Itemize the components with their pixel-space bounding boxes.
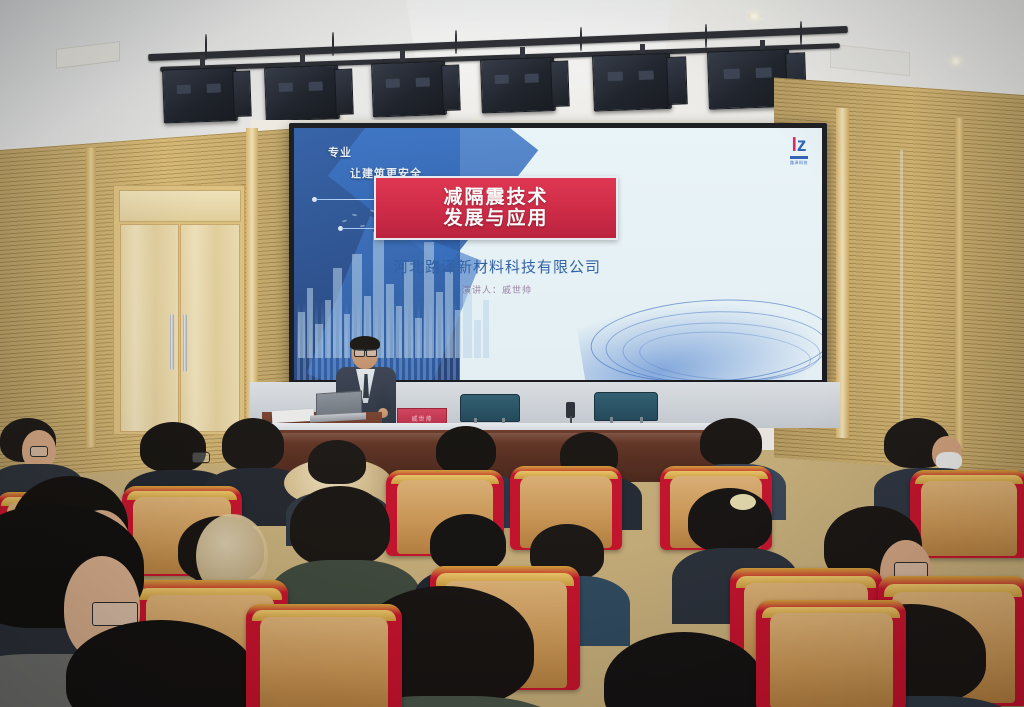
light-cable [800, 21, 802, 45]
photo-canvas: 专业 让建筑更安全 2023 [0, 0, 1024, 707]
auditorium-seat[interactable] [246, 604, 402, 707]
wall-column [955, 117, 964, 448]
light-cable [332, 32, 334, 56]
door-transom [119, 190, 241, 222]
door-handle-left[interactable] [170, 314, 174, 370]
light-cable [455, 30, 457, 54]
stage-light [371, 61, 459, 120]
double-door[interactable] [113, 185, 245, 435]
ceiling-downlight [950, 57, 962, 65]
light-cable [580, 27, 582, 51]
auditorium-seat[interactable] [756, 600, 906, 707]
stage-light [480, 57, 568, 116]
stage-light [162, 67, 250, 126]
ceiling-downlight [748, 12, 761, 20]
hair-scrunchie [730, 494, 756, 510]
door-handle-right[interactable] [183, 314, 187, 372]
presenter-glasses [366, 349, 377, 357]
light-cable [705, 24, 707, 48]
stage-light [592, 52, 686, 113]
panel-chair [594, 392, 658, 421]
door-leaf-right[interactable] [180, 224, 240, 432]
light-cable [205, 34, 207, 60]
right-wall-panel-seam [900, 150, 903, 430]
wall-column [86, 147, 96, 448]
presenter-glasses [354, 349, 365, 357]
stage-light [264, 65, 352, 124]
